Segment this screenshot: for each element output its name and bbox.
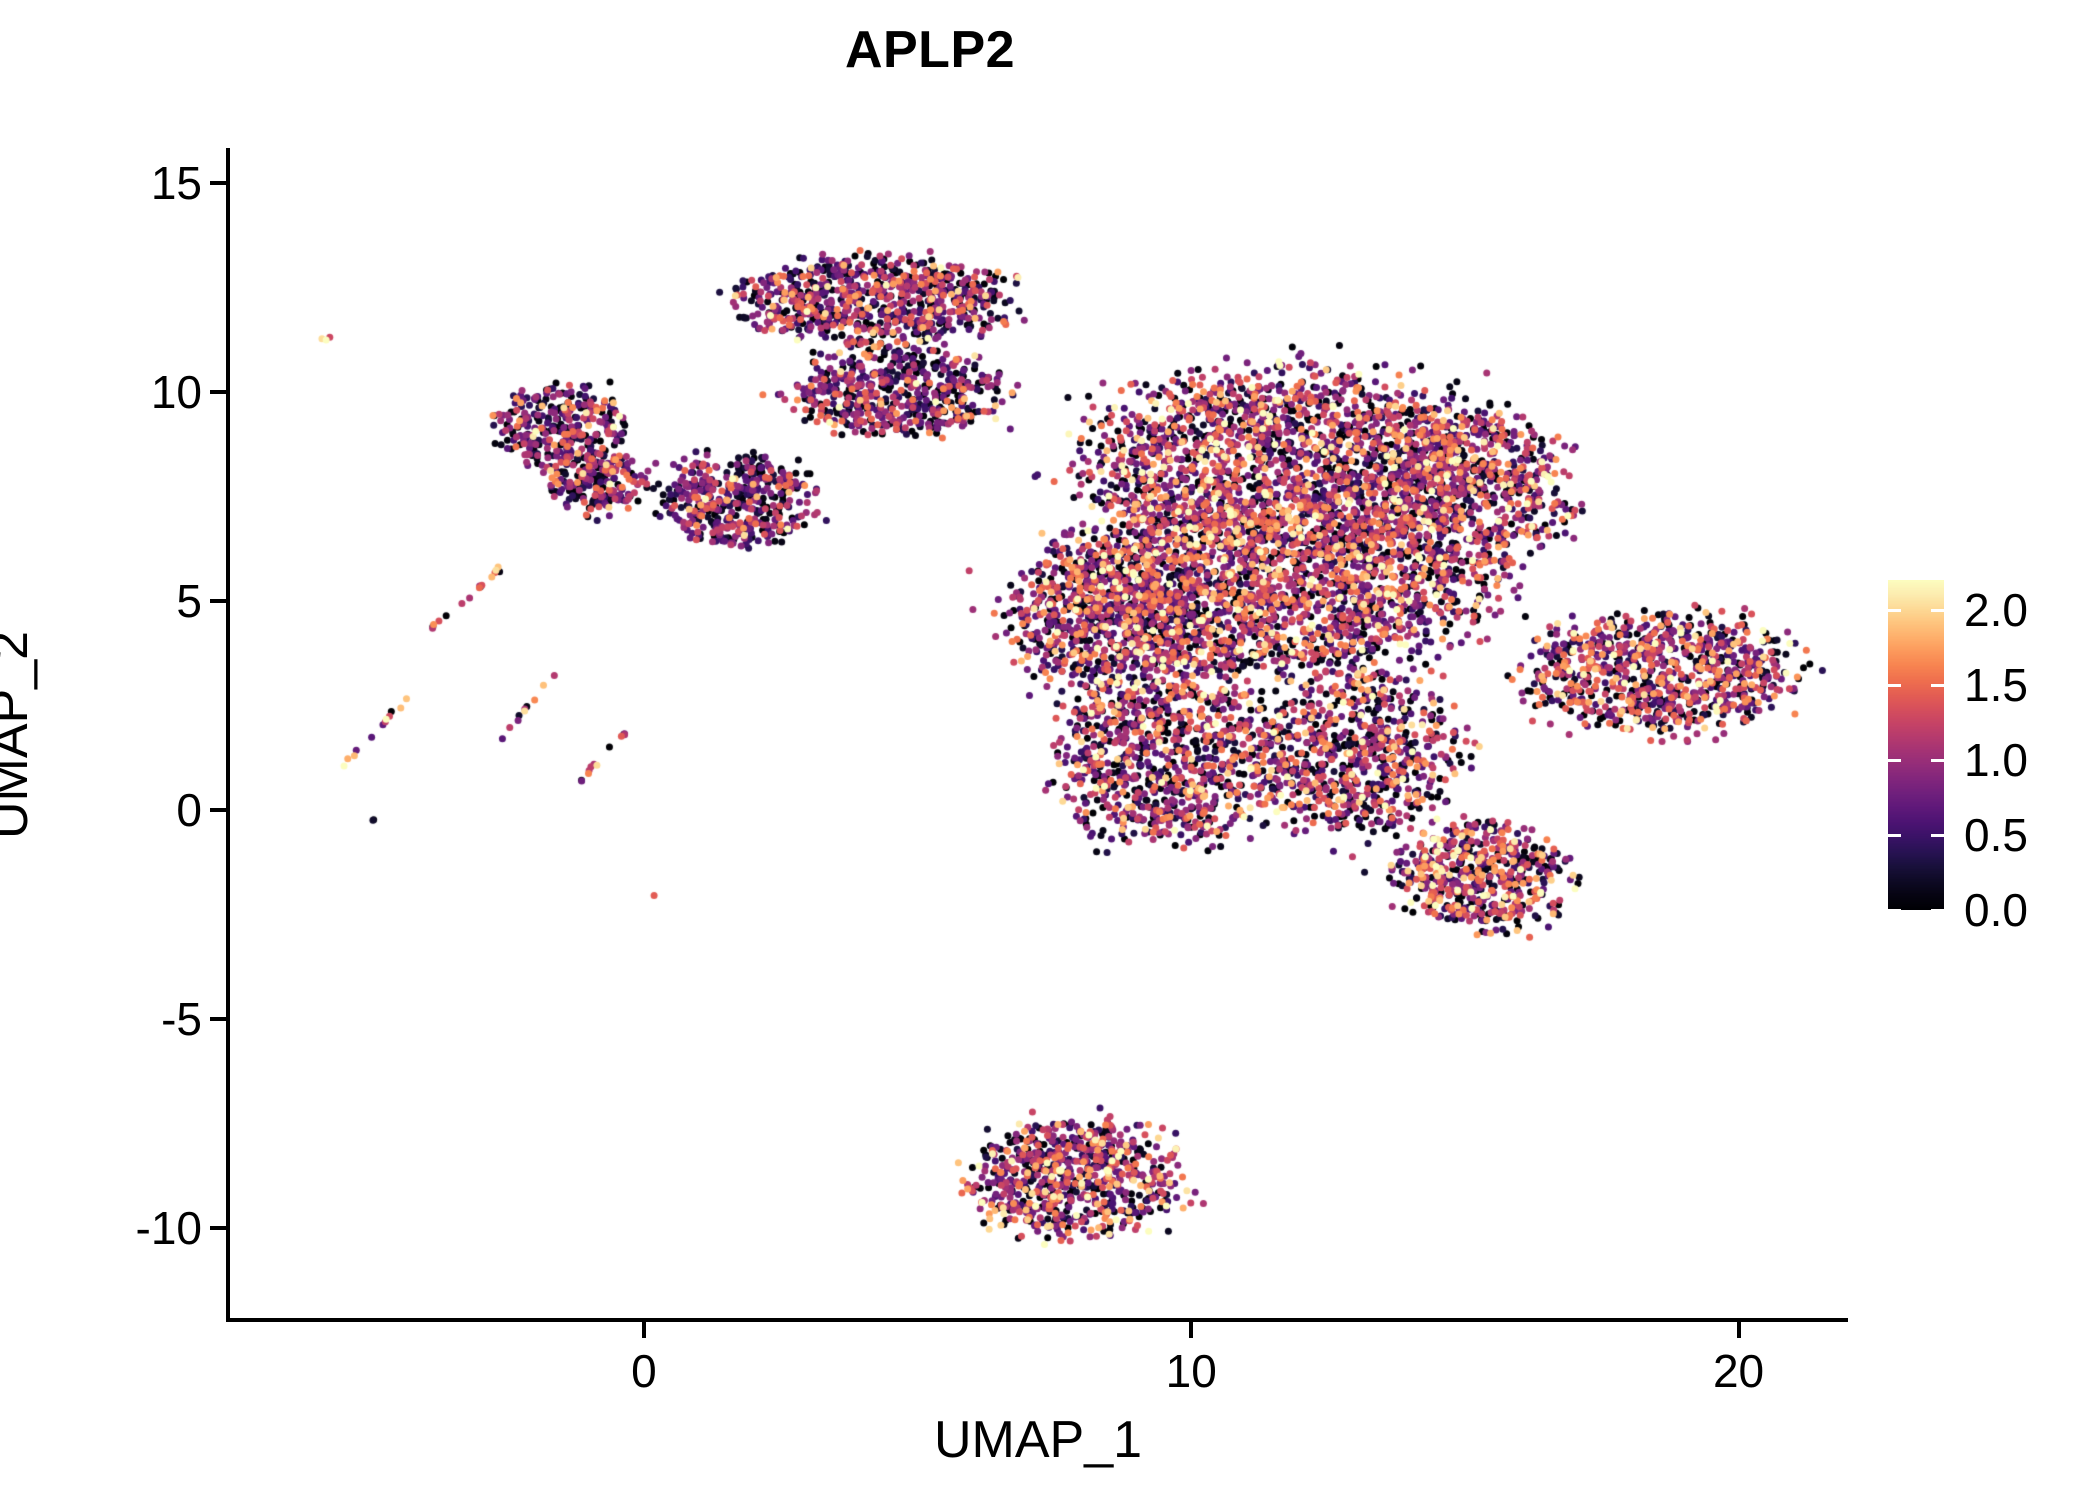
y-tick-mark bbox=[210, 1226, 226, 1230]
y-tick-label: 10 bbox=[151, 365, 202, 419]
colorbar-tick-mark bbox=[1931, 759, 1944, 762]
x-tick-label: 10 bbox=[1166, 1344, 1217, 1398]
y-tick-label: -10 bbox=[136, 1201, 202, 1255]
y-tick-mark bbox=[210, 1017, 226, 1021]
y-tick-label: -5 bbox=[161, 992, 202, 1046]
scatter-plot-canvas bbox=[228, 150, 1848, 1320]
umap-feature-plot: APLP2 151050-5-10 01020 UMAP_1 UMAP_2 2.… bbox=[0, 0, 2100, 1500]
colorbar-tick-mark bbox=[1888, 684, 1901, 687]
y-axis-title: UMAP_2 bbox=[0, 631, 40, 839]
x-tick-label: 20 bbox=[1713, 1344, 1764, 1398]
y-tick-label: 5 bbox=[176, 574, 202, 628]
y-tick-label: 0 bbox=[176, 783, 202, 837]
x-tick-mark bbox=[642, 1322, 646, 1338]
y-tick-mark bbox=[210, 181, 226, 185]
x-axis-title: UMAP_1 bbox=[228, 1410, 1848, 1470]
colorbar-tick-mark bbox=[1888, 909, 1901, 912]
colorbar-tick-mark bbox=[1888, 834, 1901, 837]
colorbar-tick-mark bbox=[1888, 609, 1901, 612]
plot-panel bbox=[228, 150, 1848, 1320]
colorbar-tick-label: 2.0 bbox=[1964, 583, 2028, 637]
x-tick-mark bbox=[1737, 1322, 1741, 1338]
colorbar-legend: 2.01.51.00.50.0 bbox=[1888, 580, 2088, 920]
colorbar-gradient bbox=[1888, 580, 1944, 910]
colorbar-tick-mark bbox=[1931, 609, 1944, 612]
colorbar-tick-mark bbox=[1931, 834, 1944, 837]
x-tick-mark bbox=[1189, 1322, 1193, 1338]
y-axis-line bbox=[226, 148, 230, 1322]
page-title: APLP2 bbox=[0, 22, 1860, 79]
y-tick-mark bbox=[210, 390, 226, 394]
colorbar-tick-label: 1.0 bbox=[1964, 733, 2028, 787]
colorbar-tick-mark bbox=[1931, 909, 1944, 912]
y-tick-mark bbox=[210, 599, 226, 603]
y-tick-label: 15 bbox=[151, 156, 202, 210]
colorbar-canvas bbox=[1888, 580, 1944, 910]
x-axis-line bbox=[226, 1318, 1848, 1322]
colorbar-tick-mark bbox=[1931, 684, 1944, 687]
colorbar-tick-label: 0.5 bbox=[1964, 808, 2028, 862]
colorbar-tick-mark bbox=[1888, 759, 1901, 762]
y-tick-mark bbox=[210, 808, 226, 812]
colorbar-tick-label: 1.5 bbox=[1964, 658, 2028, 712]
colorbar-tick-label: 0.0 bbox=[1964, 883, 2028, 937]
x-tick-label: 0 bbox=[631, 1344, 657, 1398]
